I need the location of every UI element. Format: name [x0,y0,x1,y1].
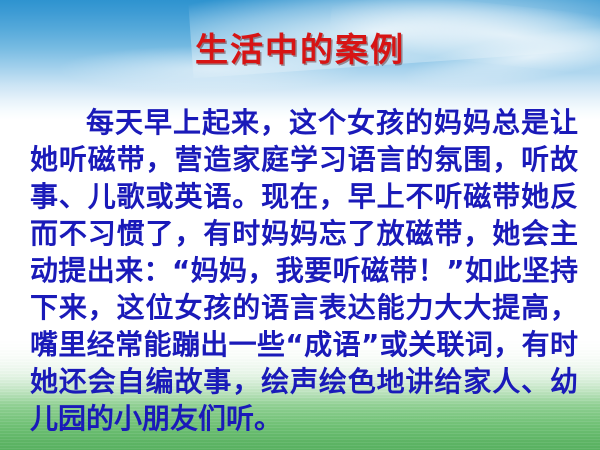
slide-title: 生活中的案例 [0,32,600,68]
presentation-slide: 生活中的案例 每天早上起来，这个女孩的妈妈总是让她听磁带，营造家庭学习语言的氛围… [0,0,600,450]
slide-body-paragraph: 每天早上起来，这个女孩的妈妈总是让她听磁带，营造家庭学习语言的氛围，听故事、儿歌… [30,104,578,437]
slide-content: 生活中的案例 每天早上起来，这个女孩的妈妈总是让她听磁带，营造家庭学习语言的氛围… [0,0,600,450]
